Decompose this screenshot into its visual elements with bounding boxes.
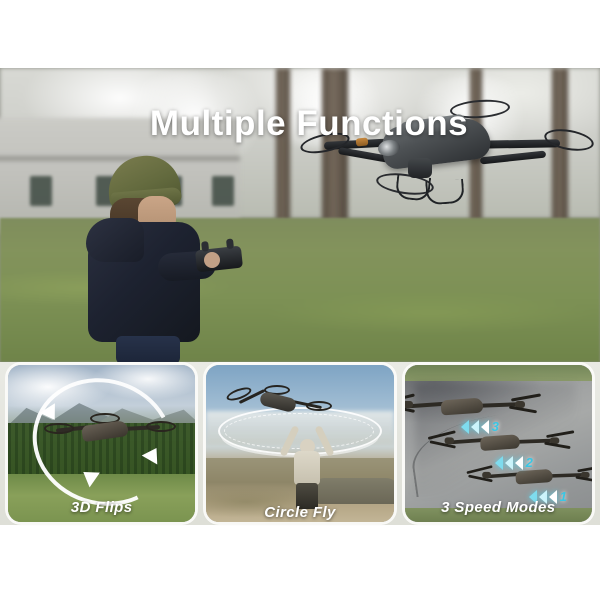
person-arms-raised (284, 423, 330, 509)
panel-caption: 3D Flips (8, 499, 195, 516)
grass-edge-top (405, 365, 592, 381)
torso (294, 451, 320, 485)
legs (116, 336, 180, 362)
motor-hub (405, 401, 413, 408)
chevron-icon (461, 420, 469, 434)
building-window (30, 176, 52, 206)
drone-icon (60, 417, 156, 447)
speed-chevrons-icon-3: 3 (461, 419, 499, 434)
feature-panel-circle-fly[interactable]: Circle Fly (206, 365, 393, 522)
hand (204, 252, 220, 268)
panel-caption: Circle Fly (206, 504, 393, 521)
drone-body (440, 398, 483, 416)
feature-panel-strip: 3D Flips (0, 362, 600, 525)
drone-arm (480, 151, 546, 165)
chevron-icon (495, 456, 503, 470)
speed-level-label: 3 (492, 419, 499, 434)
drone-body (259, 391, 297, 413)
feature-panels: 3D Flips (8, 365, 592, 522)
panel-caption: 3 Speed Modes (405, 499, 592, 516)
drone-landing-leg (425, 179, 465, 206)
feature-panel-3d-flips[interactable]: 3D Flips (8, 365, 195, 522)
chevron-icon (481, 420, 489, 434)
chevron-icon (471, 420, 479, 434)
feature-panel-3-speed-modes[interactable]: 3 2 1 3 Speed Modes (405, 365, 592, 522)
drone-propeller (146, 421, 176, 432)
speed-chevrons-icon-2: 2 (495, 455, 533, 470)
tree-trunk (276, 68, 290, 228)
product-image-canvas: Multiple Functions (0, 0, 600, 600)
drone-operator (78, 156, 228, 362)
hero-image: Multiple Functions (0, 68, 600, 362)
drone-body (515, 469, 553, 485)
chevron-icon (515, 456, 523, 470)
page-title: Multiple Functions (0, 104, 600, 144)
drone-body (480, 434, 520, 451)
speed-level-label: 2 (526, 455, 533, 470)
drone-body (81, 420, 129, 442)
jacket-hood (86, 218, 144, 262)
drone-icon (240, 387, 318, 421)
chevron-icon (505, 456, 513, 470)
drone-propeller (44, 423, 74, 434)
